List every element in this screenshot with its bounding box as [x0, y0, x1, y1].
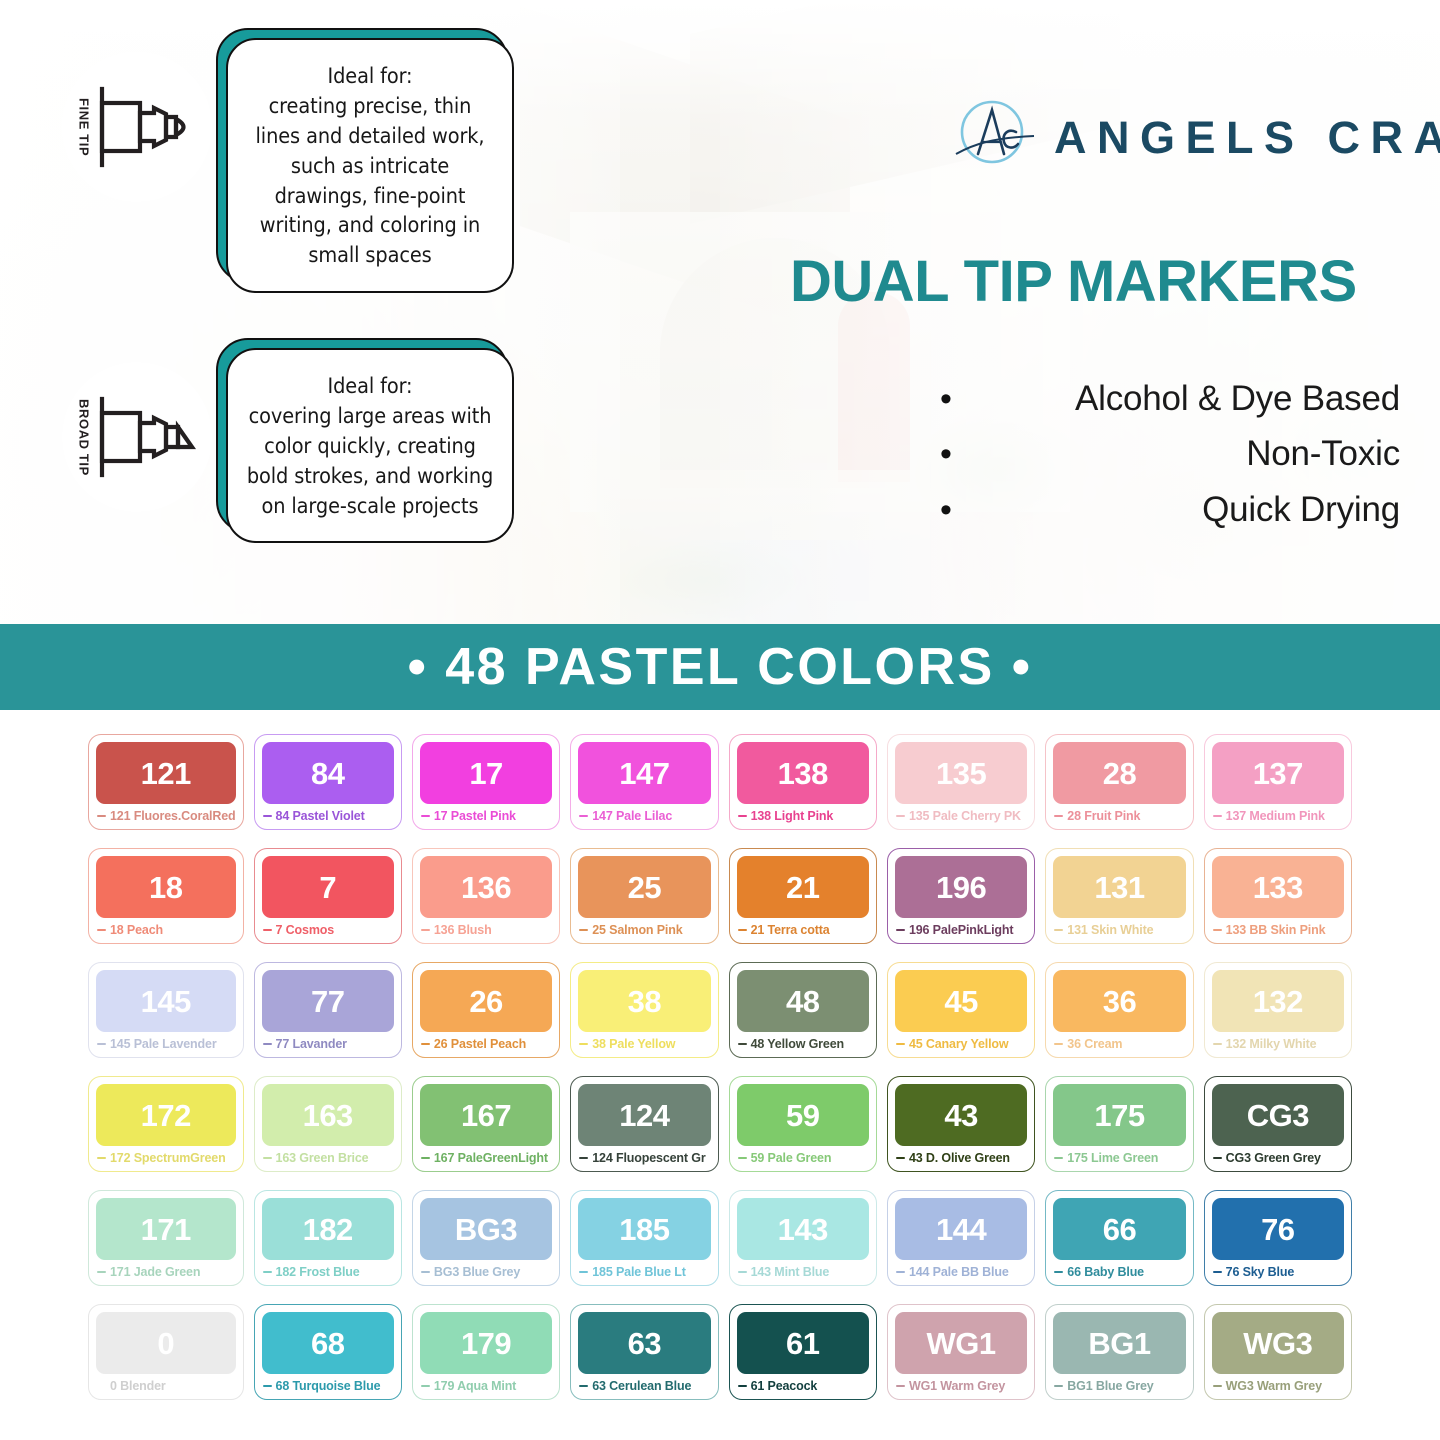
- swatch-name: 66 Baby Blue: [1067, 1266, 1144, 1279]
- broad-tip-lead: Ideal for:: [246, 372, 494, 402]
- swatch-name: 175 Lime Green: [1067, 1152, 1158, 1165]
- swatch-code: 43: [944, 1100, 977, 1131]
- swatch-color-chip: 163: [262, 1084, 394, 1146]
- swatch-color-chip: 63: [578, 1312, 710, 1374]
- swatch-code: 138: [778, 758, 828, 789]
- swatch-code: 133: [1253, 872, 1303, 903]
- swatch-dash-icon: [1213, 1385, 1222, 1387]
- swatch-code: 167: [461, 1100, 511, 1131]
- color-swatch: 6868 Turquoise Blue: [254, 1304, 402, 1400]
- swatch-code: BG1: [1088, 1328, 1150, 1359]
- swatch-name: 84 Pastel Violet: [276, 810, 365, 823]
- swatch-code: 172: [141, 1100, 191, 1131]
- swatch-color-chip: 182: [262, 1198, 394, 1260]
- color-swatch: 77 Cosmos: [254, 848, 402, 944]
- swatch-code: 25: [628, 872, 661, 903]
- swatch-color-chip: 84: [262, 742, 394, 804]
- swatch-label-row: 43 D. Olive Green: [895, 1150, 1027, 1166]
- feature-item: • Alcohol & Dye Based: [940, 378, 1400, 419]
- swatch-label-row: 133 BB Skin Pink: [1212, 922, 1344, 938]
- fine-tip-badge: FINE TIP: [62, 52, 212, 202]
- fine-tip-body: creating precise, thin lines and detaile…: [256, 94, 485, 268]
- swatch-dash-icon: [738, 1043, 747, 1045]
- swatch-name: 172 SpectrumGreen: [110, 1152, 226, 1165]
- color-swatch: 147147 Pale Lilac: [570, 734, 718, 830]
- swatch-dash-icon: [263, 815, 272, 817]
- color-swatch: 2828 Fruit Pink: [1045, 734, 1193, 830]
- swatch-name: CG3 Green Grey: [1226, 1152, 1321, 1165]
- swatch-dash-icon: [1213, 929, 1222, 931]
- swatch-label-row: 38 Pale Yellow: [578, 1036, 710, 1052]
- swatch-color-chip: 121: [96, 742, 236, 804]
- swatch-label-row: 25 Salmon Pink: [578, 922, 710, 938]
- swatch-label-row: 132 Milky White: [1212, 1036, 1344, 1052]
- brand-lockup: ANGELS CRAFT: [948, 92, 1440, 184]
- broad-tip-callout: BROAD TIP Ideal for: covering large area…: [62, 348, 514, 543]
- swatch-color-chip: 133: [1212, 856, 1344, 918]
- swatch-color-chip: 135: [895, 742, 1027, 804]
- swatch-name: 18 Peach: [110, 924, 163, 937]
- angels-craft-logo-icon: [948, 92, 1040, 184]
- fine-tip-callout: FINE TIP Ideal for: creating precise, th…: [62, 38, 514, 293]
- swatch-label-row: 163 Green Brice: [262, 1150, 394, 1166]
- color-swatch: 135135 Pale Cherry PK: [887, 734, 1035, 830]
- swatch-name: 144 Pale BB Blue: [909, 1266, 1009, 1279]
- swatch-dash-icon: [738, 815, 747, 817]
- swatch-code: 26: [469, 986, 502, 1017]
- swatch-dash-icon: [1054, 1157, 1063, 1159]
- fine-tip-card: Ideal for: creating precise, thin lines …: [226, 38, 514, 293]
- swatch-dash-icon: [1213, 1271, 1222, 1273]
- swatch-color-chip: 25: [578, 856, 710, 918]
- swatch-code: 196: [936, 872, 986, 903]
- swatch-name: 133 BB Skin Pink: [1226, 924, 1326, 937]
- swatch-code: 121: [141, 758, 191, 789]
- swatch-code: 179: [461, 1328, 511, 1359]
- swatch-label-row: 143 Mint Blue: [737, 1264, 869, 1280]
- swatch-color-chip: 59: [737, 1084, 869, 1146]
- swatch-name: BG3 Blue Grey: [434, 1266, 520, 1279]
- swatch-name: 28 Fruit Pink: [1067, 810, 1140, 823]
- swatch-label-row: 59 Pale Green: [737, 1150, 869, 1166]
- color-swatch: 143143 Mint Blue: [729, 1190, 877, 1286]
- swatch-color-chip: 76: [1212, 1198, 1344, 1260]
- swatch-name: 76 Sky Blue: [1226, 1266, 1295, 1279]
- swatch-color-chip: 7: [262, 856, 394, 918]
- swatch-code: BG3: [455, 1214, 517, 1245]
- broad-tip-card-wrapper: Ideal for: covering large areas with col…: [226, 348, 514, 543]
- swatch-color-chip: 137: [1212, 742, 1344, 804]
- swatch-name: 143 Mint Blue: [751, 1266, 830, 1279]
- swatch-code: 136: [461, 872, 511, 903]
- swatch-name: 182 Frost Blue: [276, 1266, 360, 1279]
- color-swatch: 131131 Skin White: [1045, 848, 1193, 944]
- swatch-label-row: 167 PaleGreenLight: [420, 1150, 552, 1166]
- swatch-color-chip: 131: [1053, 856, 1185, 918]
- broad-tip-badge-label: BROAD TIP: [77, 399, 92, 476]
- swatch-color-chip: 48: [737, 970, 869, 1032]
- swatch-name: 77 Lavander: [276, 1038, 347, 1051]
- swatch-color-chip: 68: [262, 1312, 394, 1374]
- swatch-dash-icon: [421, 1385, 430, 1387]
- swatch-color-chip: 143: [737, 1198, 869, 1260]
- swatch-label-row: 26 Pastel Peach: [420, 1036, 552, 1052]
- pastel-colors-banner: • 48 PASTEL COLORS •: [0, 624, 1440, 710]
- color-swatch: 137137 Medium Pink: [1204, 734, 1352, 830]
- color-swatch: 138138 Light Pink: [729, 734, 877, 830]
- swatch-dash-icon: [263, 1043, 272, 1045]
- swatch-name: 171 Jade Green: [110, 1266, 200, 1279]
- color-swatch: 132132 Milky White: [1204, 962, 1352, 1058]
- swatch-color-chip: 17: [420, 742, 552, 804]
- swatch-code: 59: [786, 1100, 819, 1131]
- color-swatch: 1717 Pastel Pink: [412, 734, 560, 830]
- swatch-code: 7: [319, 872, 336, 903]
- swatch-label-row: 171 Jade Green: [96, 1264, 236, 1280]
- swatch-color-chip: 18: [96, 856, 236, 918]
- swatch-name: 17 Pastel Pink: [434, 810, 516, 823]
- swatch-dash-icon: [896, 815, 905, 817]
- swatch-dash-icon: [1054, 1271, 1063, 1273]
- fine-tip-lead: Ideal for:: [246, 62, 494, 92]
- color-swatch: 145145 Pale Lavender: [88, 962, 244, 1058]
- swatch-label-row: 185 Pale Blue Lt: [578, 1264, 710, 1280]
- bullet-icon: •: [940, 382, 986, 416]
- color-swatch: 136136 Blush: [412, 848, 560, 944]
- swatch-dash-icon: [421, 1157, 430, 1159]
- swatch-dash-icon: [263, 1271, 272, 1273]
- swatch-dash-icon: [97, 815, 106, 817]
- swatch-name: 179 Aqua Mint: [434, 1380, 516, 1393]
- swatch-dash-icon: [421, 929, 430, 931]
- bullet-icon: •: [940, 437, 986, 471]
- swatch-label-row: 76 Sky Blue: [1212, 1264, 1344, 1280]
- banner-title: • 48 PASTEL COLORS •: [408, 637, 1033, 697]
- feature-label: Quick Drying: [986, 489, 1400, 530]
- swatch-name: 196 PalePinkLight: [909, 924, 1013, 937]
- swatch-label-row: 144 Pale BB Blue: [895, 1264, 1027, 1280]
- color-swatch: 5959 Pale Green: [729, 1076, 877, 1172]
- swatch-label-row: 48 Yellow Green: [737, 1036, 869, 1052]
- swatch-label-row: 36 Cream: [1053, 1036, 1185, 1052]
- swatch-code: 84: [311, 758, 344, 789]
- swatch-dash-icon: [97, 929, 106, 931]
- swatch-name: 167 PaleGreenLight: [434, 1152, 548, 1165]
- swatch-name: 0 Blender: [110, 1380, 166, 1393]
- swatch-code: 48: [786, 986, 819, 1017]
- swatch-color-chip: 171: [96, 1198, 236, 1260]
- color-swatch: 175175 Lime Green: [1045, 1076, 1193, 1172]
- swatch-dash-icon: [421, 815, 430, 817]
- swatch-name: WG1 Warm Grey: [909, 1380, 1005, 1393]
- swatch-label-row: 61 Peacock: [737, 1378, 869, 1394]
- swatch-dash-icon: [421, 1271, 430, 1273]
- color-swatch: 4848 Yellow Green: [729, 962, 877, 1058]
- swatch-name: 61 Peacock: [751, 1380, 818, 1393]
- swatch-dash-icon: [97, 1043, 106, 1045]
- color-swatch: 6363 Cerulean Blue: [570, 1304, 718, 1400]
- swatch-dash-icon: [896, 1043, 905, 1045]
- color-swatch: 171171 Jade Green: [88, 1190, 244, 1286]
- swatch-code: 0: [157, 1328, 174, 1359]
- swatch-code: 182: [303, 1214, 353, 1245]
- swatch-name: 38 Pale Yellow: [592, 1038, 675, 1051]
- brand-name: ANGELS CRAFT: [1054, 112, 1440, 164]
- swatch-label-row: 0 Blender: [96, 1378, 236, 1394]
- color-swatch: CG3CG3 Green Grey: [1204, 1076, 1352, 1172]
- color-swatch: 4343 D. Olive Green: [887, 1076, 1035, 1172]
- swatch-label-row: 131 Skin White: [1053, 922, 1185, 938]
- swatch-label-row: 21 Terra cotta: [737, 922, 869, 938]
- swatch-color-chip: CG3: [1212, 1084, 1344, 1146]
- swatch-color-chip: 28: [1053, 742, 1185, 804]
- swatch-color-chip: 45: [895, 970, 1027, 1032]
- color-swatch: 144144 Pale BB Blue: [887, 1190, 1035, 1286]
- feature-item: • Quick Drying: [940, 489, 1400, 530]
- color-swatch: 1818 Peach: [88, 848, 244, 944]
- color-swatch: 3636 Cream: [1045, 962, 1193, 1058]
- swatch-label-row: BG3 Blue Grey: [420, 1264, 552, 1280]
- color-swatch: 7676 Sky Blue: [1204, 1190, 1352, 1286]
- swatch-label-row: 17 Pastel Pink: [420, 808, 552, 824]
- swatch-label-row: 138 Light Pink: [737, 808, 869, 824]
- swatch-dash-icon: [579, 929, 588, 931]
- swatch-label-row: 28 Fruit Pink: [1053, 808, 1185, 824]
- color-swatch: 6666 Baby Blue: [1045, 1190, 1193, 1286]
- swatch-color-chip: 144: [895, 1198, 1027, 1260]
- swatch-name: 132 Milky White: [1226, 1038, 1317, 1051]
- swatch-name: 163 Green Brice: [276, 1152, 369, 1165]
- swatch-code: 147: [619, 758, 669, 789]
- swatch-code: 145: [141, 986, 191, 1017]
- swatch-code: 163: [303, 1100, 353, 1131]
- swatch-name: 131 Skin White: [1067, 924, 1153, 937]
- swatch-name: 21 Terra cotta: [751, 924, 830, 937]
- swatch-color-chip: 36: [1053, 970, 1185, 1032]
- swatch-dash-spacer: [97, 1385, 106, 1387]
- swatch-color-chip: 196: [895, 856, 1027, 918]
- color-swatch: 182182 Frost Blue: [254, 1190, 402, 1286]
- swatch-code: 132: [1253, 986, 1303, 1017]
- swatch-color-chip: 66: [1053, 1198, 1185, 1260]
- swatch-label-row: 147 Pale Lilac: [578, 808, 710, 824]
- fine-tip-marker-icon: [94, 81, 198, 173]
- swatch-code: 45: [944, 986, 977, 1017]
- swatch-label-row: 135 Pale Cherry PK: [895, 808, 1027, 824]
- swatch-code: 21: [786, 872, 819, 903]
- color-swatch: 00 Blender: [88, 1304, 244, 1400]
- swatch-label-row: 63 Cerulean Blue: [578, 1378, 710, 1394]
- bullet-icon: •: [940, 493, 986, 527]
- color-swatch: BG1BG1 Blue Grey: [1045, 1304, 1193, 1400]
- swatch-color-chip: 124: [578, 1084, 710, 1146]
- swatch-dash-icon: [421, 1043, 430, 1045]
- broad-tip-body: covering large areas with color quickly,…: [247, 404, 493, 519]
- swatch-label-row: 182 Frost Blue: [262, 1264, 394, 1280]
- swatch-dash-icon: [896, 929, 905, 931]
- swatch-label-row: 137 Medium Pink: [1212, 808, 1344, 824]
- swatch-color-chip: 145: [96, 970, 236, 1032]
- color-swatch: 167167 PaleGreenLight: [412, 1076, 560, 1172]
- swatch-dash-icon: [579, 815, 588, 817]
- swatch-code: 143: [778, 1214, 828, 1245]
- feature-label: Non-Toxic: [986, 433, 1400, 474]
- swatch-name: 43 D. Olive Green: [909, 1152, 1010, 1165]
- swatch-dash-icon: [579, 1157, 588, 1159]
- swatch-dash-icon: [97, 1157, 106, 1159]
- swatch-code: 63: [628, 1328, 661, 1359]
- swatch-code: 38: [628, 986, 661, 1017]
- swatch-name: 138 Light Pink: [751, 810, 834, 823]
- swatch-code: 124: [619, 1100, 669, 1131]
- swatch-color-chip: 138: [737, 742, 869, 804]
- swatch-dash-icon: [738, 1157, 747, 1159]
- swatch-name: 121 Fluores.CoralRed: [110, 810, 236, 823]
- swatch-name: 137 Medium Pink: [1226, 810, 1325, 823]
- feature-list: • Alcohol & Dye Based • Non-Toxic • Quic…: [940, 378, 1400, 544]
- swatch-label-row: 124 Fluopescent Gr: [578, 1150, 710, 1166]
- swatch-code: 185: [619, 1214, 669, 1245]
- swatch-dash-icon: [1213, 815, 1222, 817]
- swatch-dash-icon: [738, 1271, 747, 1273]
- swatch-color-chip: WG1: [895, 1312, 1027, 1374]
- swatch-code: 36: [1103, 986, 1136, 1017]
- swatch-code: 144: [936, 1214, 986, 1245]
- color-swatch: 3838 Pale Yellow: [570, 962, 718, 1058]
- swatch-code: 76: [1261, 1214, 1294, 1245]
- swatch-color-chip: 38: [578, 970, 710, 1032]
- color-swatch: 2626 Pastel Peach: [412, 962, 560, 1058]
- swatch-name: 135 Pale Cherry PK: [909, 810, 1021, 823]
- swatch-dash-icon: [263, 929, 272, 931]
- swatch-name: 136 Blush: [434, 924, 492, 937]
- swatch-label-row: 45 Canary Yellow: [895, 1036, 1027, 1052]
- swatch-dash-icon: [579, 1271, 588, 1273]
- swatch-dash-icon: [1054, 1043, 1063, 1045]
- color-swatch: BG3BG3 Blue Grey: [412, 1190, 560, 1286]
- swatch-label-row: 66 Baby Blue: [1053, 1264, 1185, 1280]
- color-swatch: 124124 Fluopescent Gr: [570, 1076, 718, 1172]
- swatch-name: 124 Fluopescent Gr: [592, 1152, 705, 1165]
- swatch-label-row: 18 Peach: [96, 922, 236, 938]
- color-swatch: 4545 Canary Yellow: [887, 962, 1035, 1058]
- swatch-label-row: 196 PalePinkLight: [895, 922, 1027, 938]
- swatch-label-row: BG1 Blue Grey: [1053, 1378, 1185, 1394]
- swatch-dash-icon: [896, 1157, 905, 1159]
- swatch-label-row: CG3 Green Grey: [1212, 1150, 1344, 1166]
- swatch-color-chip: 136: [420, 856, 552, 918]
- swatch-dash-icon: [738, 1385, 747, 1387]
- swatch-label-row: 84 Pastel Violet: [262, 808, 394, 824]
- color-swatch: 121121 Fluores.CoralRed: [88, 734, 244, 830]
- swatch-dash-icon: [1054, 815, 1063, 817]
- feature-label: Alcohol & Dye Based: [986, 378, 1400, 419]
- swatch-color-chip: 43: [895, 1084, 1027, 1146]
- broad-tip-card: Ideal for: covering large areas with col…: [226, 348, 514, 543]
- swatch-code: 17: [469, 758, 502, 789]
- swatch-color-chip: 179: [420, 1312, 552, 1374]
- broad-tip-marker-icon: [94, 391, 198, 483]
- swatch-code: 135: [936, 758, 986, 789]
- swatch-name: 25 Salmon Pink: [592, 924, 682, 937]
- swatch-code: WG1: [927, 1328, 996, 1359]
- color-swatch: 8484 Pastel Violet: [254, 734, 402, 830]
- swatch-code: 68: [311, 1328, 344, 1359]
- swatch-code: 77: [311, 986, 344, 1017]
- swatch-dash-icon: [1054, 929, 1063, 931]
- swatch-code: WG3: [1243, 1328, 1312, 1359]
- swatch-name: BG1 Blue Grey: [1067, 1380, 1153, 1393]
- color-swatch: 6161 Peacock: [729, 1304, 877, 1400]
- broad-tip-badge: BROAD TIP: [62, 362, 212, 512]
- swatch-dash-icon: [97, 1271, 106, 1273]
- page-title: DUAL TIP MARKERS: [790, 248, 1357, 315]
- color-swatch: 196196 PalePinkLight: [887, 848, 1035, 944]
- swatch-name: 63 Cerulean Blue: [592, 1380, 691, 1393]
- swatch-color-chip: 61: [737, 1312, 869, 1374]
- swatch-dash-icon: [896, 1385, 905, 1387]
- swatch-label-row: 7 Cosmos: [262, 922, 394, 938]
- swatch-name: 185 Pale Blue Lt: [592, 1266, 685, 1279]
- swatch-label-row: 175 Lime Green: [1053, 1150, 1185, 1166]
- swatch-color-chip: 147: [578, 742, 710, 804]
- swatch-label-row: 68 Turquoise Blue: [262, 1378, 394, 1394]
- swatch-name: 7 Cosmos: [276, 924, 335, 937]
- swatch-code: 131: [1094, 872, 1144, 903]
- color-swatch: 133133 BB Skin Pink: [1204, 848, 1352, 944]
- swatch-code: 18: [149, 872, 182, 903]
- swatch-name: 36 Cream: [1067, 1038, 1122, 1051]
- swatch-code: 137: [1253, 758, 1303, 789]
- color-swatch: 2121 Terra cotta: [729, 848, 877, 944]
- color-swatch: 2525 Salmon Pink: [570, 848, 718, 944]
- swatch-color-chip: BG1: [1053, 1312, 1185, 1374]
- swatch-code: 66: [1103, 1214, 1136, 1245]
- swatch-code: CG3: [1247, 1100, 1309, 1131]
- swatch-label-row: 136 Blush: [420, 922, 552, 938]
- swatch-name: WG3 Warm Grey: [1226, 1380, 1322, 1393]
- color-swatch: 185185 Pale Blue Lt: [570, 1190, 718, 1286]
- feature-item: • Non-Toxic: [940, 433, 1400, 474]
- color-swatch: 172172 SpectrumGreen: [88, 1076, 244, 1172]
- swatch-label-row: 145 Pale Lavender: [96, 1036, 236, 1052]
- swatch-name: 147 Pale Lilac: [592, 810, 672, 823]
- fine-tip-badge-label: FINE TIP: [77, 98, 92, 156]
- swatch-dash-icon: [579, 1385, 588, 1387]
- swatch-dash-icon: [1054, 1385, 1063, 1387]
- color-swatch: 179179 Aqua Mint: [412, 1304, 560, 1400]
- swatch-label-row: WG1 Warm Grey: [895, 1378, 1027, 1394]
- swatch-dash-icon: [1213, 1157, 1222, 1159]
- swatch-dash-icon: [896, 1271, 905, 1273]
- color-swatch: WG3WG3 Warm Grey: [1204, 1304, 1352, 1400]
- swatch-name: 68 Turquoise Blue: [276, 1380, 381, 1393]
- swatch-dash-icon: [1213, 1043, 1222, 1045]
- swatch-dash-icon: [738, 929, 747, 931]
- swatch-color-chip: WG3: [1212, 1312, 1344, 1374]
- swatch-name: 48 Yellow Green: [751, 1038, 844, 1051]
- swatch-color-chip: 132: [1212, 970, 1344, 1032]
- swatch-label-row: 172 SpectrumGreen: [96, 1150, 236, 1166]
- swatch-dash-icon: [579, 1043, 588, 1045]
- color-swatch-grid: 121121 Fluores.CoralRed8484 Pastel Viole…: [0, 712, 1440, 1440]
- color-swatch: 163163 Green Brice: [254, 1076, 402, 1172]
- swatch-code: 28: [1103, 758, 1136, 789]
- swatch-color-chip: 77: [262, 970, 394, 1032]
- swatch-label-row: 179 Aqua Mint: [420, 1378, 552, 1394]
- swatch-dash-icon: [263, 1157, 272, 1159]
- swatch-label-row: WG3 Warm Grey: [1212, 1378, 1344, 1394]
